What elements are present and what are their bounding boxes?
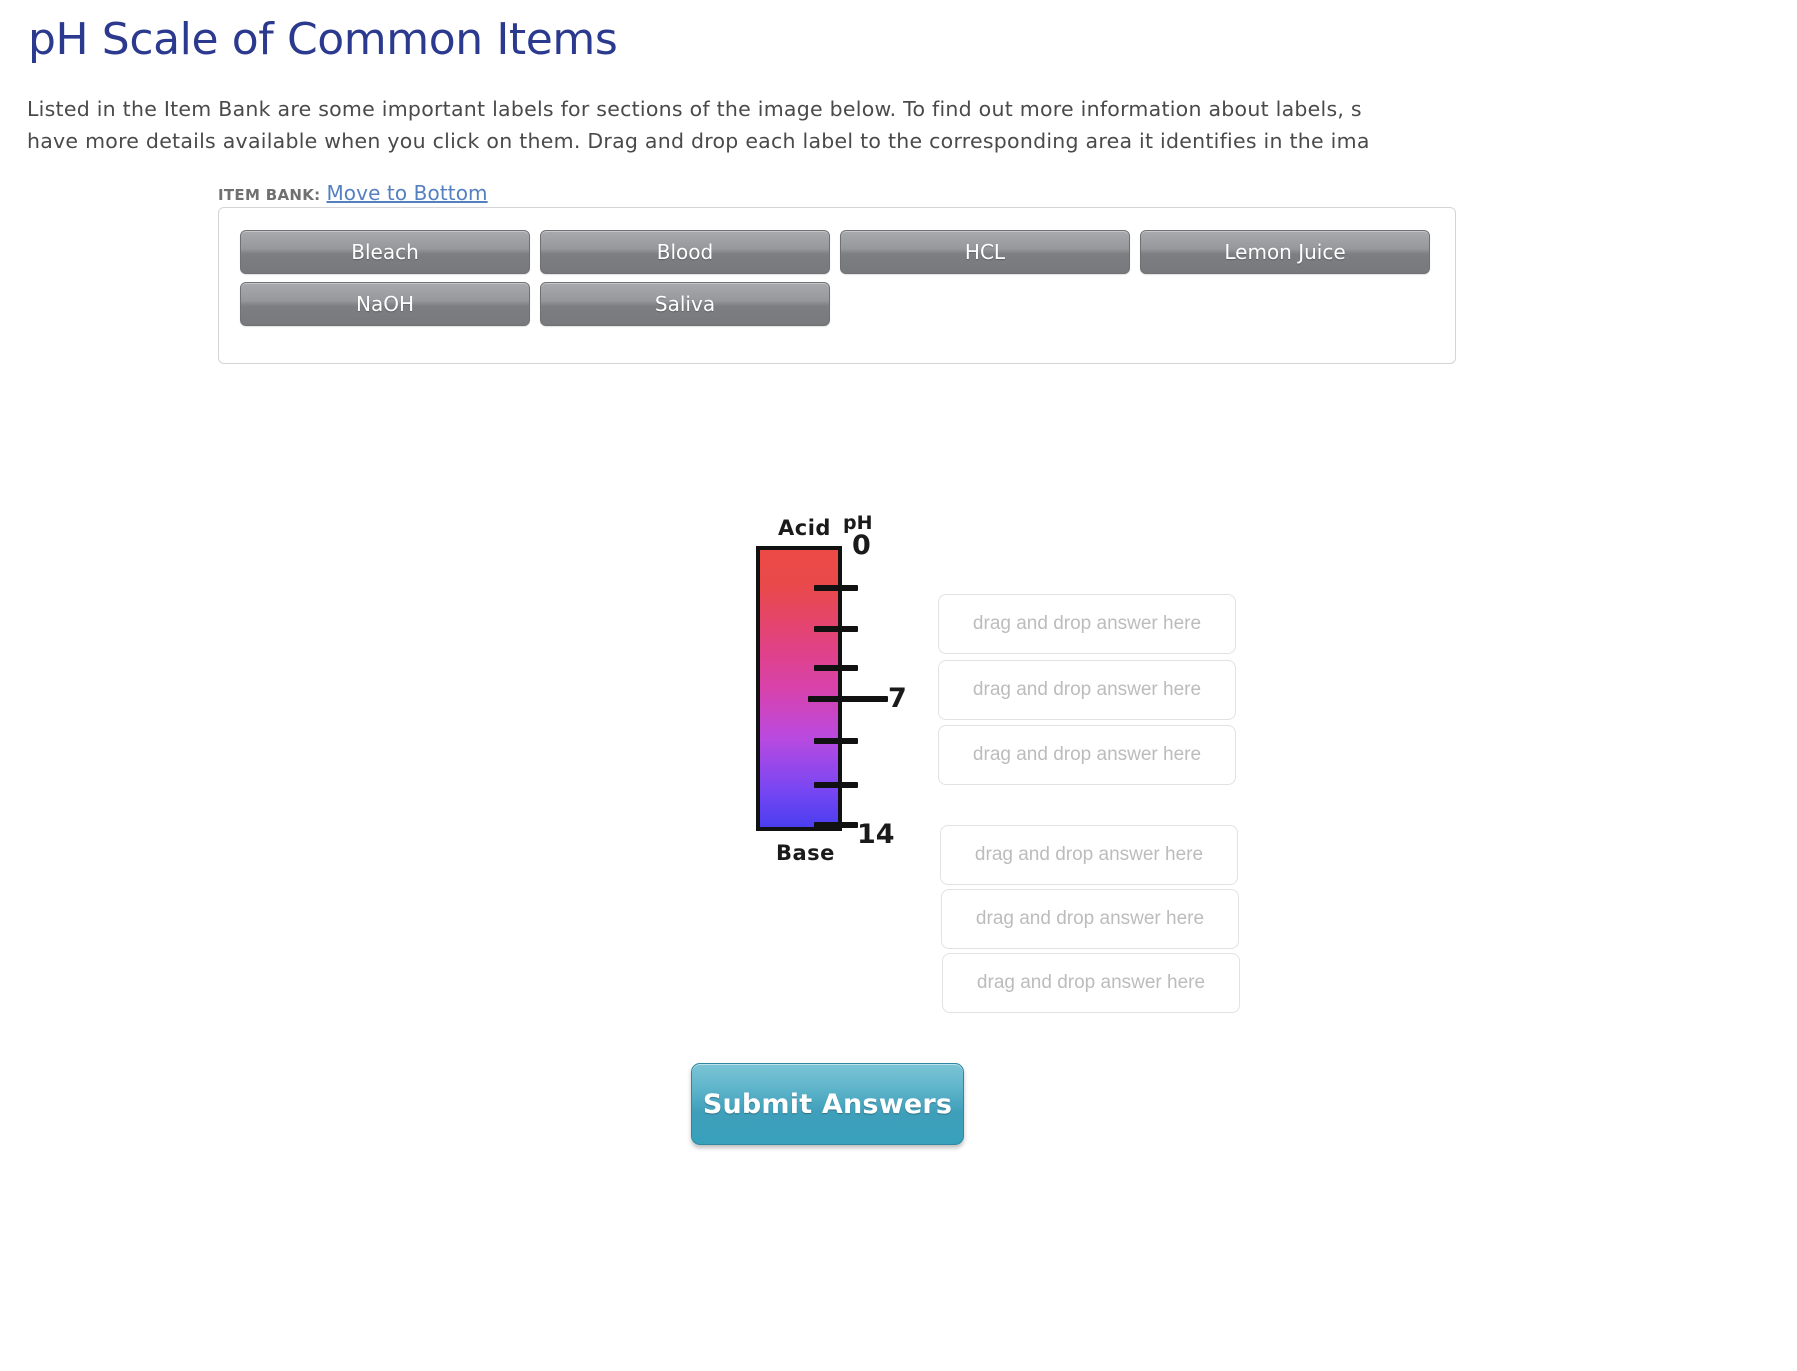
- item-chip-saliva[interactable]: Saliva: [540, 282, 830, 326]
- item-bank-panel: Bleach Blood HCL Lemon Juice NaOH Saliva: [218, 207, 1456, 364]
- ph-tick-2: [814, 585, 858, 591]
- item-bank-header: ITEM BANK: Move to Bottom: [218, 181, 488, 205]
- ph-tick-8: [814, 738, 858, 744]
- ph-tick-12: [814, 822, 858, 828]
- item-bank-label: ITEM BANK:: [218, 186, 320, 204]
- ph-tick-7: [808, 696, 888, 702]
- ph-tick-10: [814, 782, 858, 788]
- dropzone-6[interactable]: drag and drop answer here: [942, 953, 1240, 1013]
- dropzone-2[interactable]: drag and drop answer here: [938, 660, 1236, 720]
- ph-tick-6: [814, 665, 858, 671]
- instructions: Listed in the Item Bank are some importa…: [27, 93, 1797, 157]
- dropzone-1[interactable]: drag and drop answer here: [938, 594, 1236, 654]
- ph-value-14: 14: [857, 819, 895, 850]
- item-chip-naoh[interactable]: NaOH: [240, 282, 530, 326]
- ph-value-7: 7: [888, 683, 907, 714]
- dropzone-4[interactable]: drag and drop answer here: [940, 825, 1238, 885]
- instructions-line-2: have more details available when you cli…: [27, 125, 1797, 157]
- ph-tick-4: [814, 626, 858, 632]
- acid-label: Acid: [778, 516, 831, 540]
- item-bank-grid: Bleach Blood HCL Lemon Juice NaOH Saliva: [240, 230, 1440, 326]
- dropzone-5[interactable]: drag and drop answer here: [941, 889, 1239, 949]
- move-to-bottom-link[interactable]: Move to Bottom: [326, 181, 487, 205]
- item-chip-lemon-juice[interactable]: Lemon Juice: [1140, 230, 1430, 274]
- page-title: pH Scale of Common Items: [28, 14, 617, 65]
- ph-scale-figure: Acid pH 0 7 14 Base: [752, 516, 952, 876]
- instructions-line-1: Listed in the Item Bank are some importa…: [27, 93, 1797, 125]
- ph-value-0: 0: [852, 530, 871, 561]
- base-label: Base: [776, 841, 835, 865]
- item-chip-bleach[interactable]: Bleach: [240, 230, 530, 274]
- item-chip-hcl[interactable]: HCL: [840, 230, 1130, 274]
- dropzone-3[interactable]: drag and drop answer here: [938, 725, 1236, 785]
- submit-answers-button[interactable]: Submit Answers: [691, 1063, 964, 1145]
- item-chip-blood[interactable]: Blood: [540, 230, 830, 274]
